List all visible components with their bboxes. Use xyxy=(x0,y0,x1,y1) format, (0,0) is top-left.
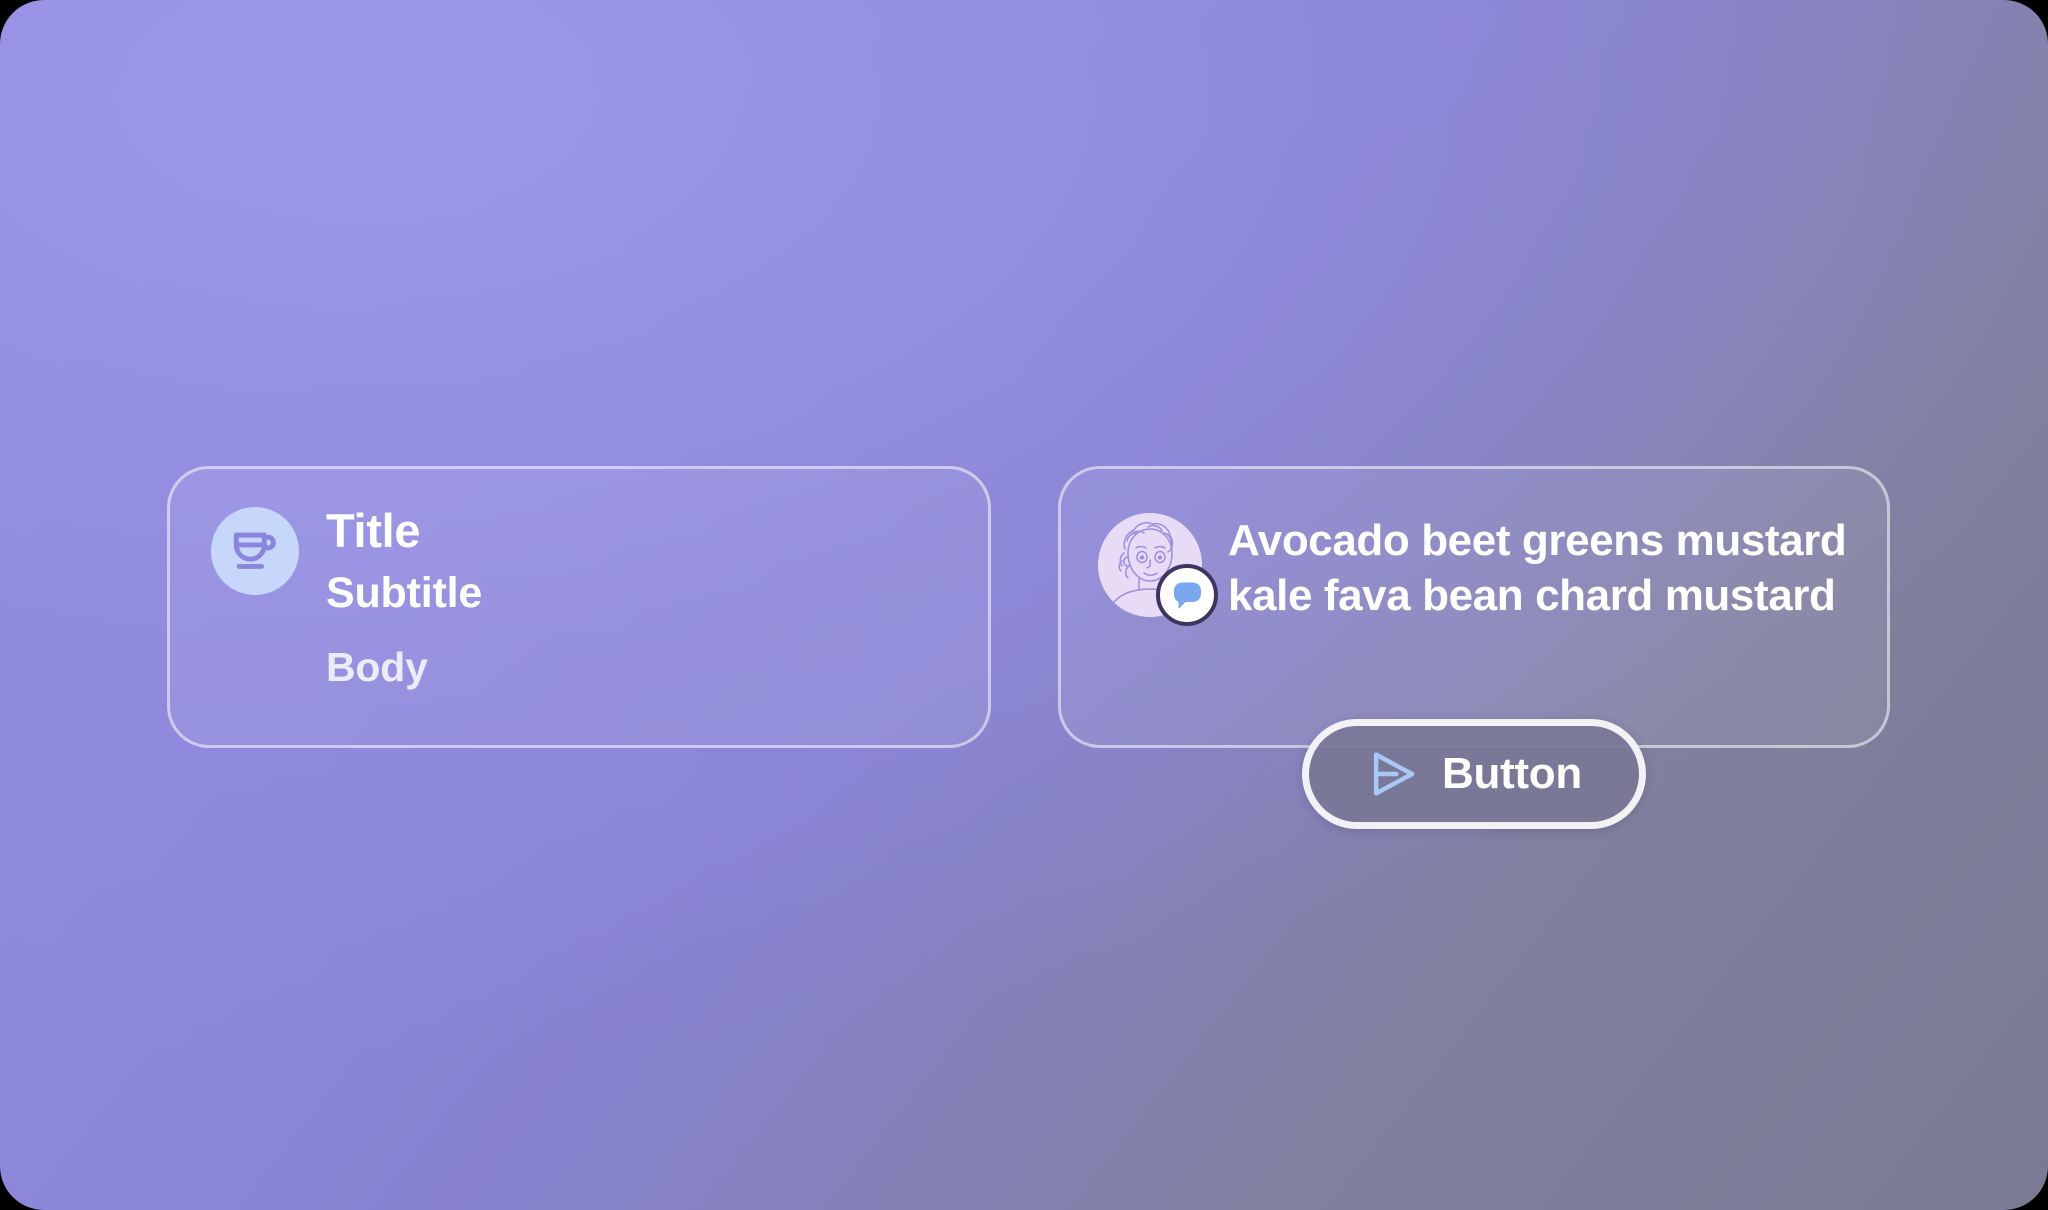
right-card-content: Avocado beet greens mustard kale fava be… xyxy=(1098,513,1861,624)
left-card-content: Title Subtitle Body xyxy=(211,505,958,690)
avatar[interactable] xyxy=(1098,513,1202,617)
card-body-text: Body xyxy=(326,644,482,691)
coffee-cup-glyph xyxy=(227,523,283,579)
send-button[interactable]: Button xyxy=(1302,719,1646,829)
card-title: Title xyxy=(326,505,482,558)
send-button-label: Button xyxy=(1442,752,1582,796)
right-message-card[interactable]: Avocado beet greens mustard kale fava be… xyxy=(1058,466,1890,748)
left-info-card[interactable]: Title Subtitle Body xyxy=(167,466,991,748)
send-triangle-glyph xyxy=(1366,747,1420,801)
message-text: Avocado beet greens mustard kale fava be… xyxy=(1228,513,1848,624)
chat-bubble-badge xyxy=(1156,564,1218,626)
left-card-text-block: Title Subtitle Body xyxy=(326,505,482,690)
card-subtitle: Subtitle xyxy=(326,569,482,618)
coffee-cup-icon xyxy=(211,507,299,595)
app-canvas: Title Subtitle Body xyxy=(0,0,2048,1210)
send-triangle-icon xyxy=(1366,747,1420,801)
